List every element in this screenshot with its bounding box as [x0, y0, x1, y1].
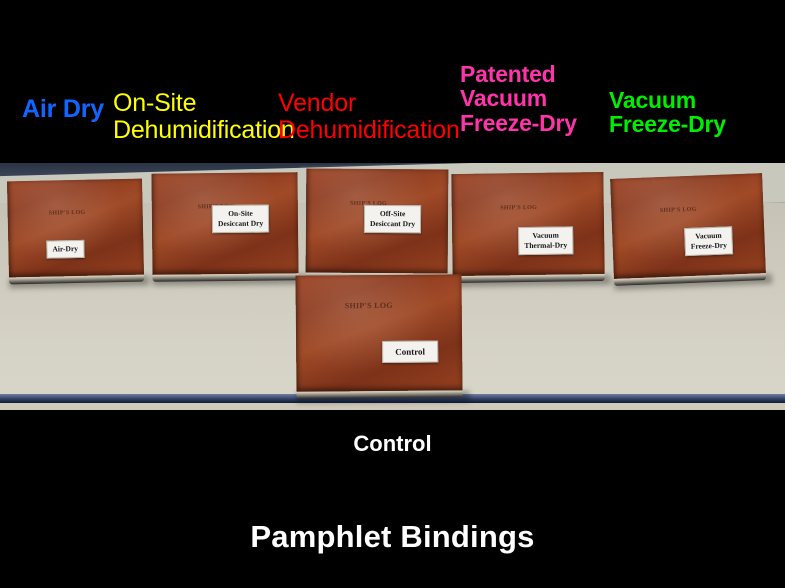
book-cover [295, 274, 462, 391]
book-cover [610, 173, 766, 279]
legend-air-dry: Air Dry [22, 96, 104, 123]
caption-control: Control [0, 431, 785, 457]
book-label-control: Control [382, 340, 438, 363]
book-cover [7, 179, 144, 278]
slide-canvas: Air Dry On-Site Dehumidification Vendor … [0, 0, 785, 588]
book-vacuum-thermal-dry: SHIP'S LOG Vacuum Thermal-Dry [451, 172, 604, 276]
book-air-dry: SHIP'S LOG Air-Dry [7, 179, 144, 278]
legend-patented-vacuum-freeze-dry: Patented Vacuum Freeze-Dry [460, 62, 577, 135]
book-cover [451, 172, 604, 276]
legend-vacuum-freeze-dry: Vacuum Freeze-Dry [609, 88, 726, 137]
book-label-vacuum-thermal-dry: Vacuum Thermal-Dry [518, 226, 573, 255]
book-label-air-dry: Air-Dry [46, 240, 84, 259]
book-off-site-desiccant-dry: SHIP'S LOG Off-Site Desiccant Dry [306, 169, 449, 274]
photograph-bindings: SHIP'S LOG Air-Dry SHIP'S LOG On-Site De… [0, 163, 785, 410]
book-vacuum-freeze-dry: SHIP'S LOG Vacuum Freeze-Dry [610, 173, 766, 279]
legend-on-site-dehumidification: On-Site Dehumidification [113, 90, 295, 143]
book-label-off-site-desiccant-dry: Off-Site Desiccant Dry [364, 205, 421, 234]
book-on-site-desiccant-dry: SHIP'S LOG On-Site Desiccant Dry [151, 172, 298, 275]
book-control: SHIP'S LOG Control [295, 274, 462, 391]
slide-title: Pamphlet Bindings [0, 519, 785, 555]
book-label-vacuum-freeze-dry: Vacuum Freeze-Dry [684, 226, 733, 256]
book-label-on-site-desiccant-dry: On-Site Desiccant Dry [212, 205, 269, 234]
legend-vendor-dehumidification: Vendor Dehumidification [278, 90, 460, 143]
legend-row: Air Dry On-Site Dehumidification Vendor … [0, 0, 785, 163]
